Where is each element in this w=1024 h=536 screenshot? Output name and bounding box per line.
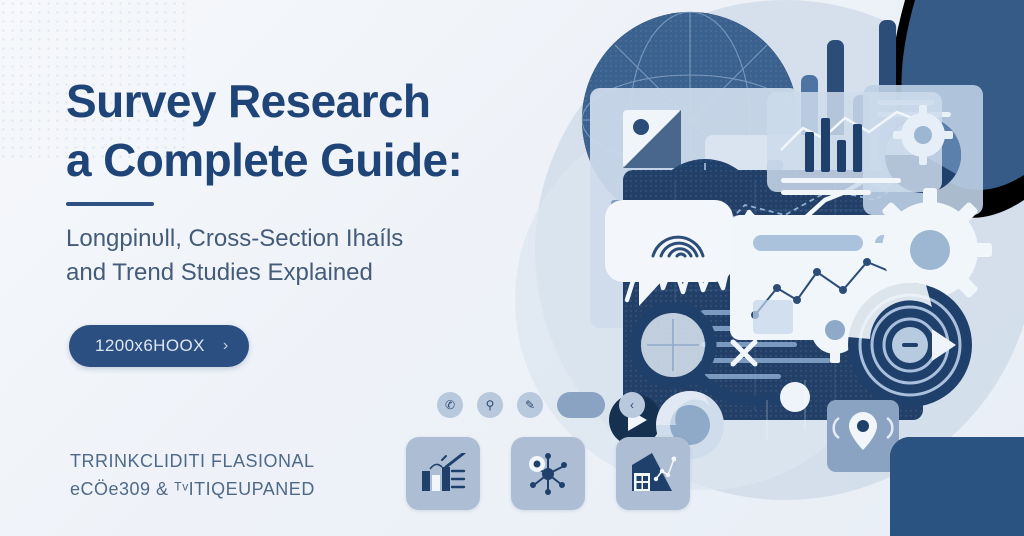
cta-label: 1200x6HOOX <box>95 336 205 356</box>
active-pill[interactable] <box>557 392 605 418</box>
phone-icon[interactable]: ✆ <box>437 392 463 418</box>
feature-tiles <box>406 437 690 510</box>
page-title: Survey Research a Complete Guide: <box>66 72 536 191</box>
network-node-tile[interactable] <box>511 437 585 510</box>
chevron-right-icon: › <box>223 337 229 355</box>
pencil-icon[interactable]: ✎ <box>517 392 543 418</box>
flask-icon[interactable]: ⚲ <box>477 392 503 418</box>
chevron-left-icon[interactable]: ‹ <box>619 392 645 418</box>
bar-chart-icon <box>420 453 466 495</box>
network-node-icon <box>526 452 570 496</box>
footer-text: TRRINKCLIDITI FLASIONAL eCÖe309 & ᵀᵛITIQ… <box>70 448 400 504</box>
cta-button[interactable]: 1200x6HOOX › <box>69 325 249 367</box>
building-chart-tile[interactable] <box>616 437 690 510</box>
icon-toolbar: ✆ ⚲ ✎ ‹ <box>437 392 645 418</box>
title-divider <box>66 202 154 206</box>
bar-chart-tile[interactable] <box>406 437 480 510</box>
hero-banner: Survey Research a Complete Guide: Longpi… <box>0 0 1024 536</box>
page-subtitle: Longpinʋll, Cross-Section Ihaíls and Tre… <box>66 222 496 290</box>
building-chart-icon <box>630 453 676 495</box>
